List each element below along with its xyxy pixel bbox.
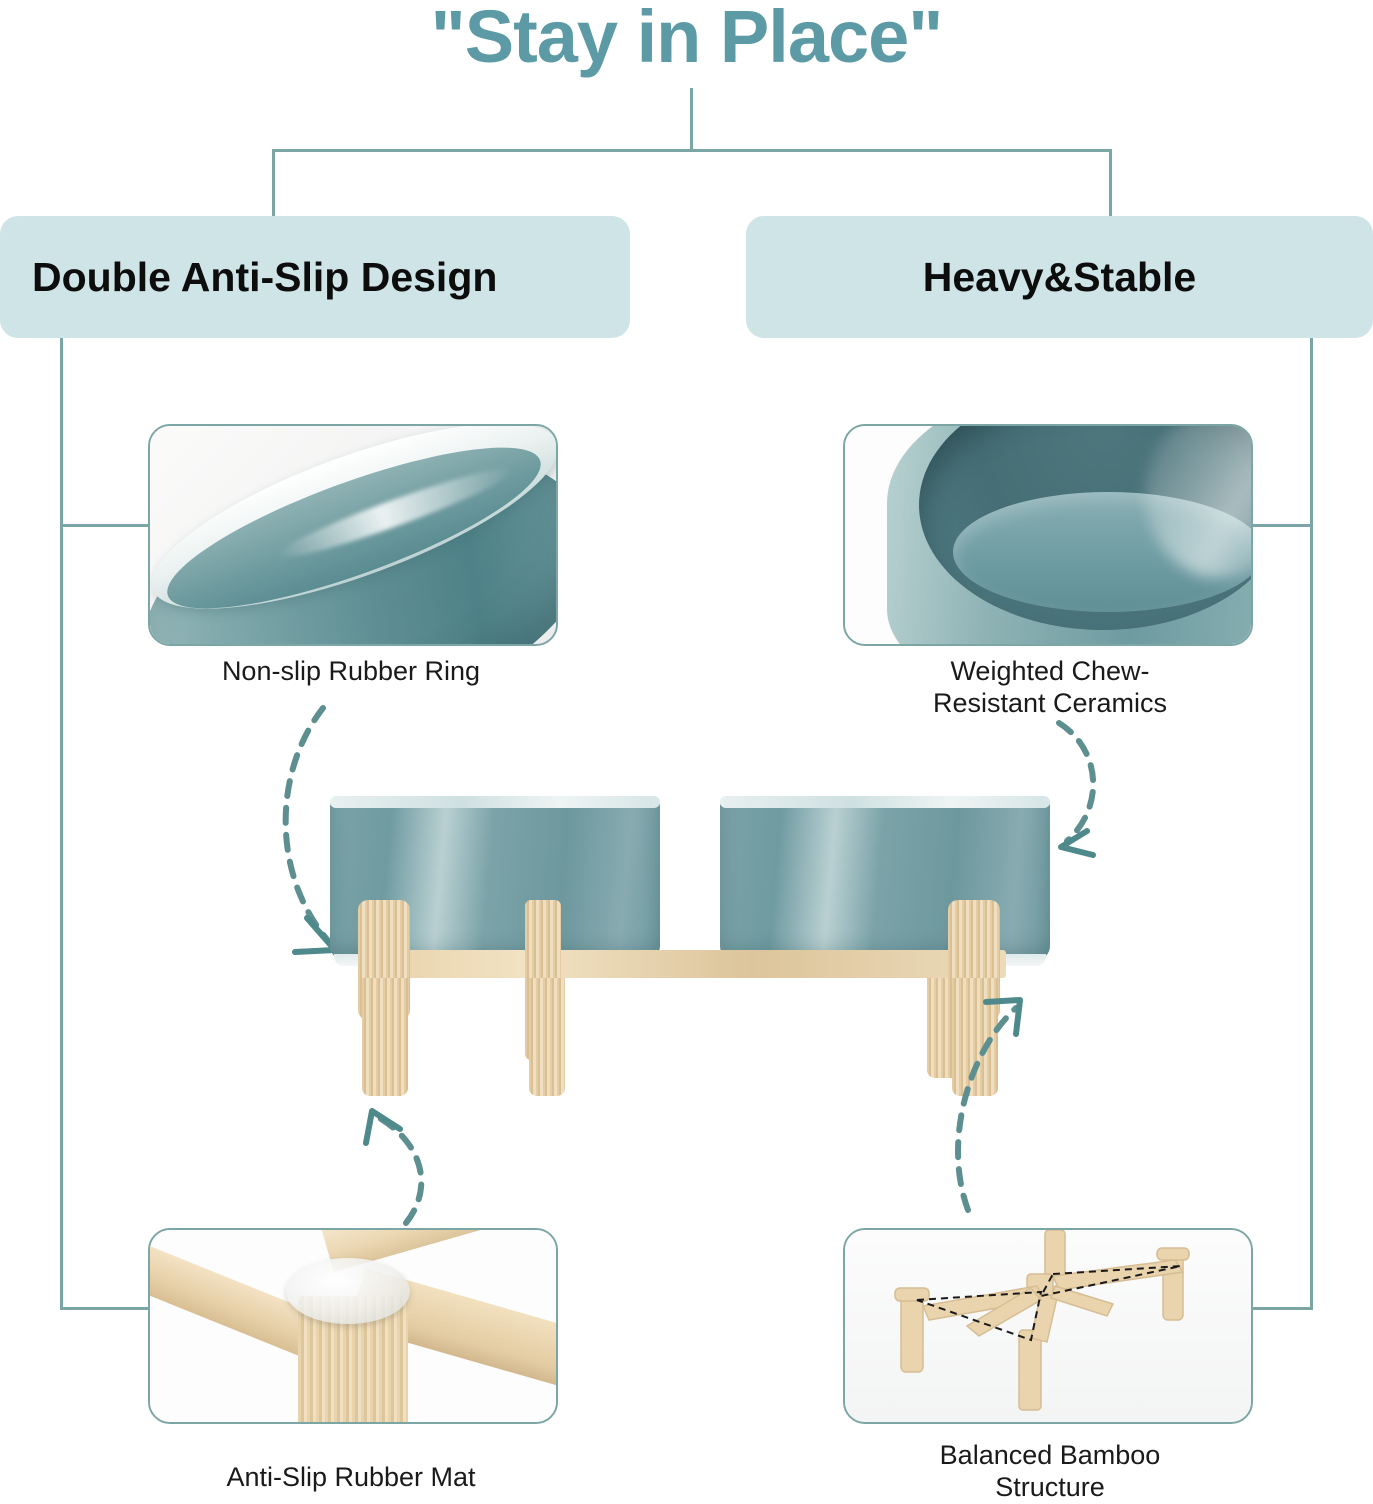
infographic-canvas: "Stay in Place" Double Anti-Slip Design … [0,0,1373,1500]
feature-caption-weighted-chew-resistant-ceramics: Weighted Chew- Resistant Ceramics [860,656,1240,720]
branch-heading-left-label: Double Anti-Slip Design [32,254,497,301]
bowl-rim [330,796,660,808]
branch-heading-right: Heavy&Stable [746,216,1373,338]
callout-arrow-rubber-mat [340,1105,460,1230]
connector-branch-left-top [60,524,150,527]
connector-branch-left-bottom [60,1307,150,1310]
feature-photo-non-slip-rubber-ring [148,424,558,646]
connector-top-bridge [272,149,1112,152]
connector-rail-right [1310,338,1313,1310]
feature-photo-balanced-bamboo-structure [843,1228,1253,1424]
feature-photo-anti-slip-rubber-mat [148,1228,558,1424]
bowl-rim [720,796,1050,808]
anti-slip-rubber-pad [286,1258,410,1324]
connector-drop-right [1109,149,1112,221]
feature-photo-weighted-chew-resistant-ceramics [843,424,1253,646]
connector-title-stem [690,88,693,151]
branch-heading-right-label: Heavy&Stable [923,254,1196,301]
bamboo-frame-diagram [845,1230,1251,1422]
connector-drop-left [272,149,275,221]
feature-caption-anti-slip-rubber-mat: Anti-Slip Rubber Mat [148,1462,554,1494]
stand-leg-right [952,978,998,1096]
stand-leg-center [529,978,565,1096]
product-bowl-right [720,800,1050,960]
stand-top-rail [366,950,1006,978]
feature-caption-non-slip-rubber-ring: Non-slip Rubber Ring [148,656,554,688]
connector-rail-left [60,338,63,1310]
page-title: "Stay in Place" [0,0,1373,79]
stand-leg-left [362,978,408,1096]
feature-caption-balanced-bamboo-structure: Balanced Bamboo Structure [860,1440,1240,1504]
main-product-image [330,800,1050,1110]
branch-heading-left: Double Anti-Slip Design [0,216,630,338]
